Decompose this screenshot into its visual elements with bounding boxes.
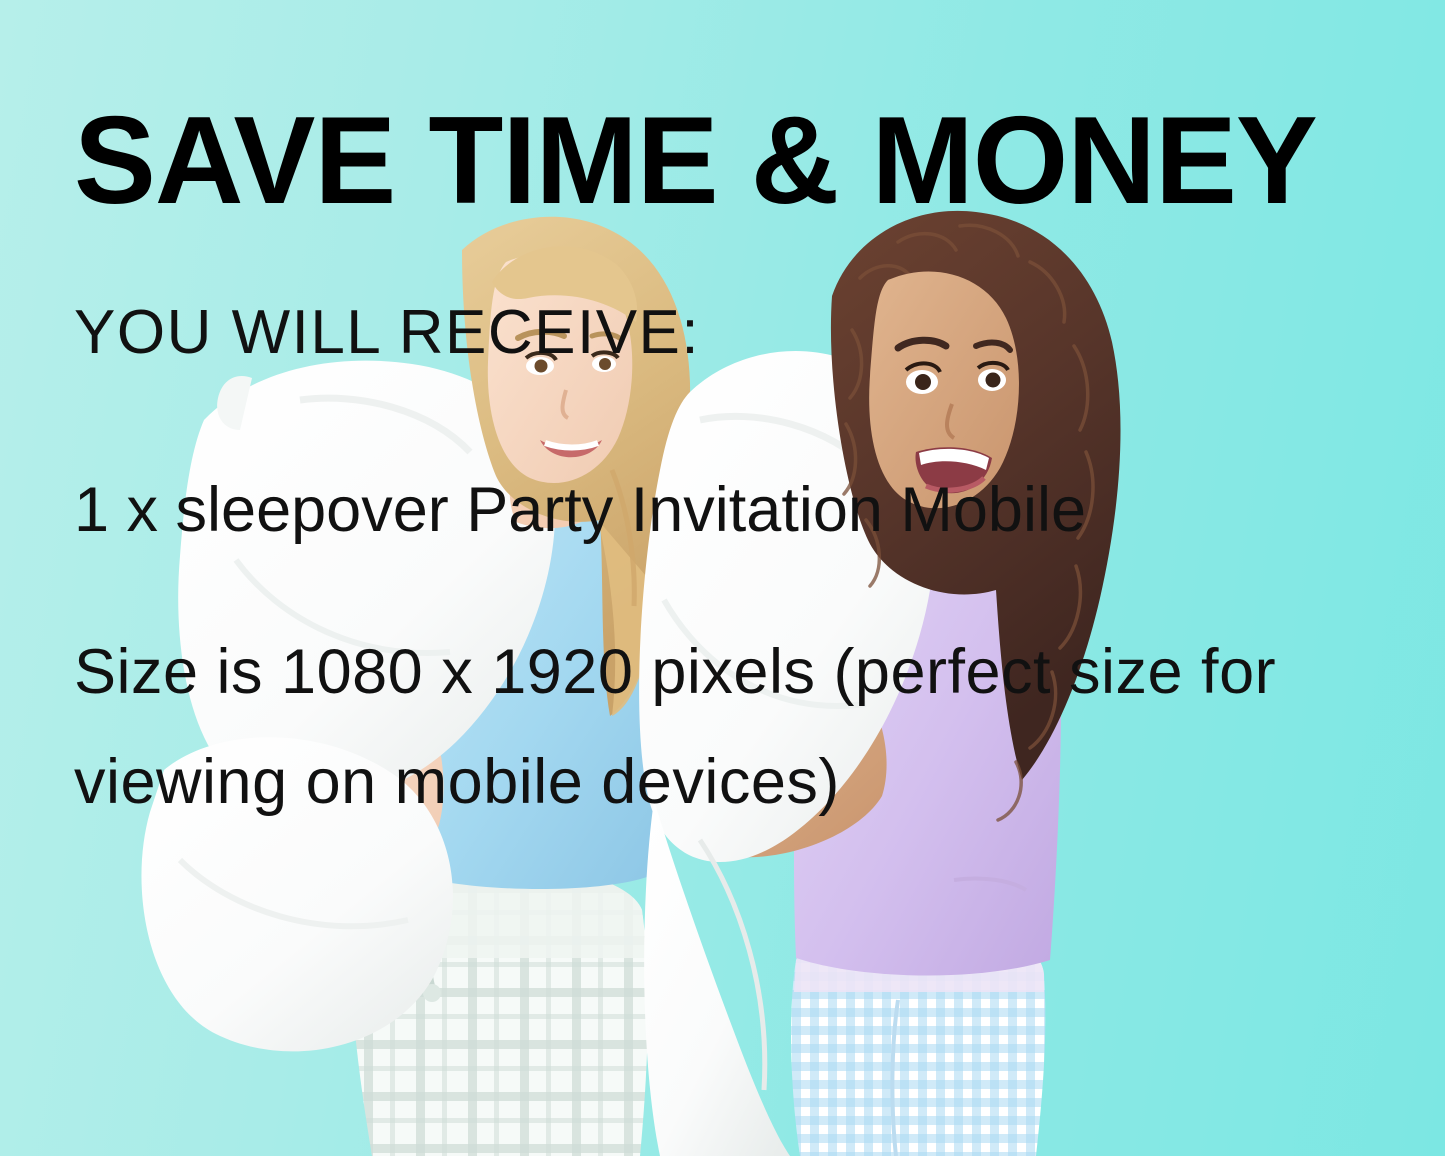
promo-graphic: SAVE TIME & MONEY YOU WILL RECEIVE: 1 x … bbox=[0, 0, 1445, 1156]
text-overlay: SAVE TIME & MONEY YOU WILL RECEIVE: 1 x … bbox=[0, 0, 1445, 1156]
included-item-line: 1 x sleepover Party Invitation Mobile bbox=[74, 477, 1086, 543]
you-will-receive-label: YOU WILL RECEIVE: bbox=[74, 300, 700, 365]
size-description-line-2: viewing on mobile devices) bbox=[74, 749, 840, 815]
size-description-line-1: Size is 1080 x 1920 pixels (perfect size… bbox=[74, 639, 1276, 705]
page-title: SAVE TIME & MONEY bbox=[74, 99, 1317, 223]
